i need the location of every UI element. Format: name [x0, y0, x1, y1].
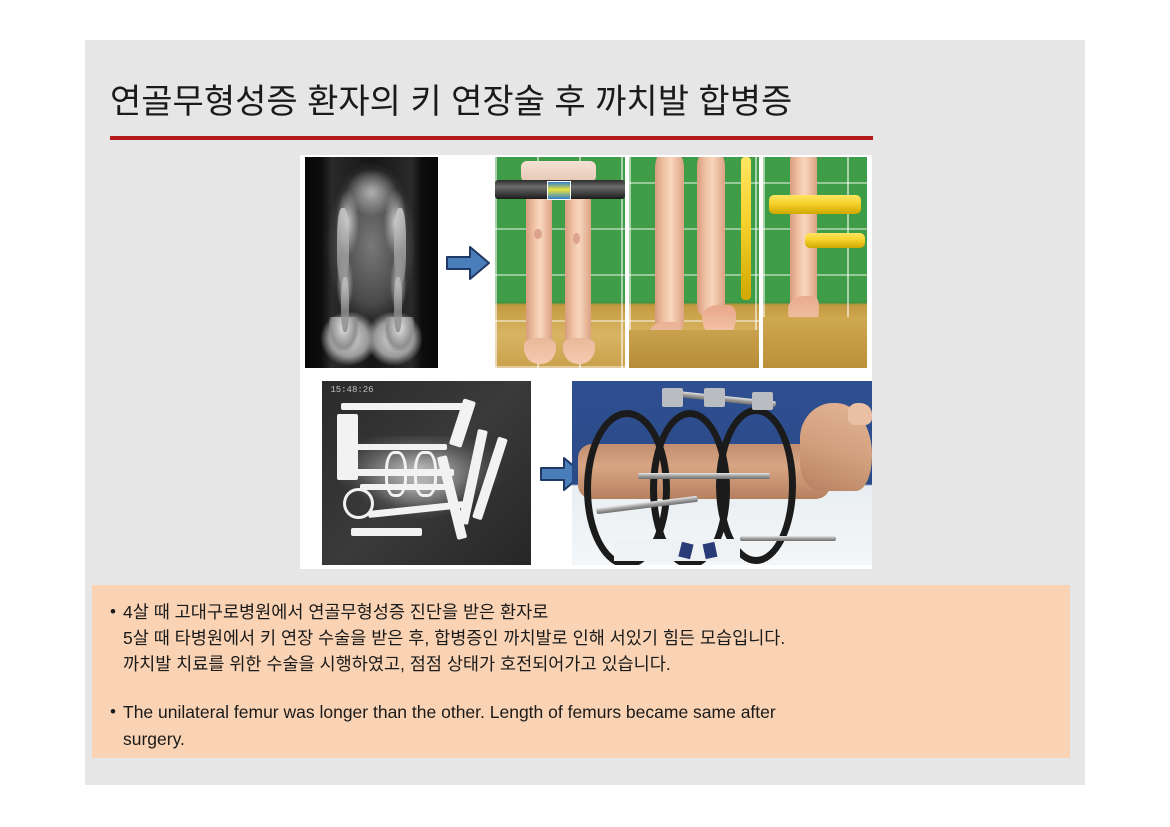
- caption-bullet-ko: • 4살 때 고대구로병원에서 연골무형성증 진단을 받은 환자로 5살 때 타…: [110, 599, 1052, 677]
- slide-canvas: 연골무형성증 환자의 키 연장술 후 까치발 합병증: [85, 40, 1085, 785]
- caption-text-english: The unilateral femur was longer than the…: [123, 699, 776, 753]
- clinical-photo-panel: 15:48:26: [300, 155, 872, 569]
- title-underline-rule: [110, 136, 873, 140]
- bullet-marker-icon-2: •: [110, 699, 123, 725]
- photo-leg-external-fixator: [572, 381, 872, 565]
- photo-single-leg-toe-stance: [763, 157, 867, 368]
- photo-row-top: [300, 155, 872, 370]
- photo-legs-front-standing: [495, 157, 625, 368]
- progression-arrow-top: [446, 245, 490, 281]
- xray-standing-legs: [305, 157, 438, 368]
- photo-row-bottom: 15:48:26: [300, 381, 872, 569]
- xray-external-fixator: 15:48:26: [322, 381, 531, 565]
- page-title: 연골무형성증 환자의 키 연장술 후 까치발 합병증: [110, 78, 900, 126]
- caption-text-korean: 4살 때 고대구로병원에서 연골무형성증 진단을 받은 환자로 5살 때 타병원…: [123, 599, 785, 677]
- caption-bullet-en: • The unilateral femur was longer than t…: [110, 699, 1052, 753]
- photo-legs-rear-toe-walking: [629, 157, 759, 368]
- caption-box: • 4살 때 고대구로병원에서 연골무형성증 진단을 받은 환자로 5살 때 타…: [92, 585, 1070, 758]
- bullet-marker-icon: •: [110, 599, 123, 625]
